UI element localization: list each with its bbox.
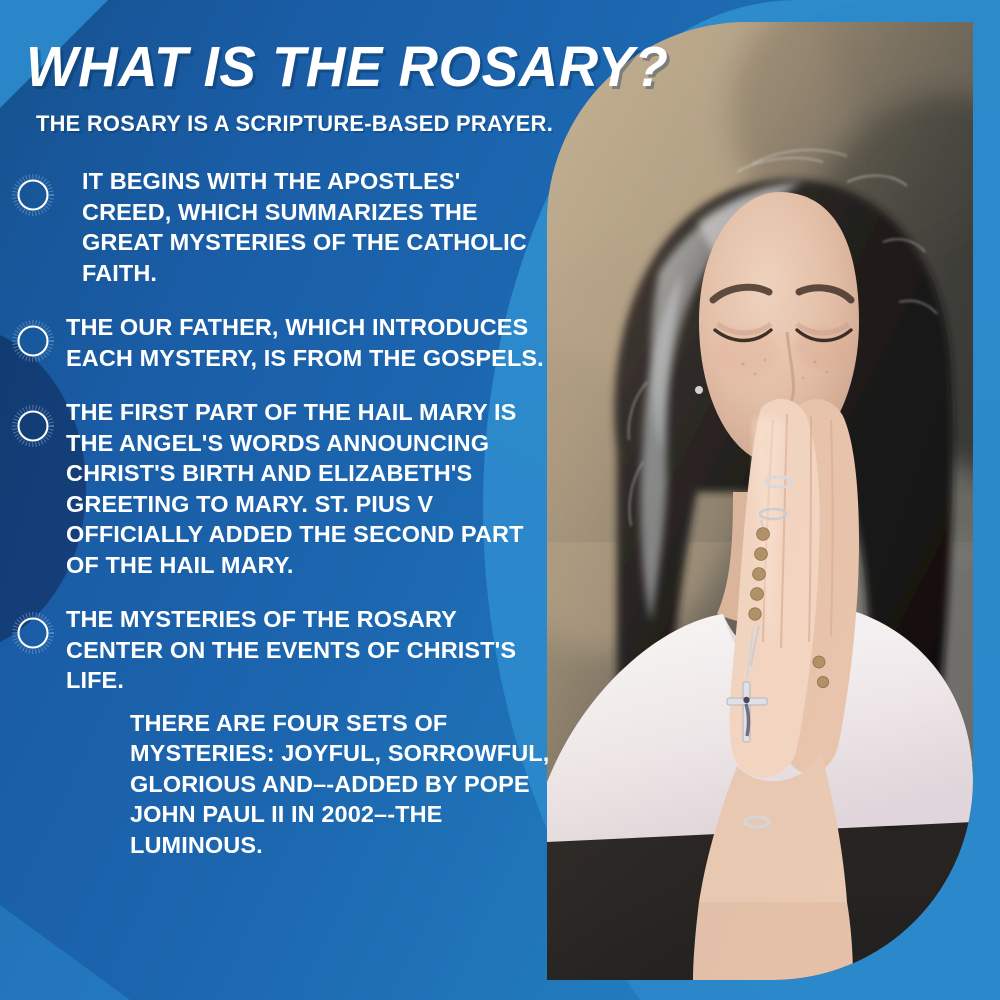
bullet-marker-cell: [0, 397, 66, 447]
list-item-text: The Our Father, which introduces each my…: [66, 312, 560, 373]
list-item: The mysteries of the Rosary center on th…: [0, 604, 560, 696]
bullet-marker-cell: [0, 312, 66, 362]
list-item: It begins with the Apostles' Creed, whic…: [0, 166, 560, 288]
bullet-marker-cell: [0, 166, 66, 216]
list-item-text: The mysteries of the Rosary center on th…: [66, 604, 560, 696]
list-item: The first part of the Hail Mary is the a…: [0, 397, 560, 580]
list-item-text: The first part of the Hail Mary is the a…: [66, 397, 560, 580]
ring-bullet-icon: [12, 174, 54, 216]
ring-bullet-icon: [12, 405, 54, 447]
page-subtitle: The Rosary is a Scripture-based prayer.: [36, 110, 637, 138]
list-item-subpoint: There are four sets of mysteries: joyful…: [130, 708, 550, 861]
bullet-marker-cell: [0, 604, 66, 654]
list-item-text: It begins with the Apostles' Creed, whic…: [66, 166, 560, 288]
page-title: What is the Rosary?: [26, 36, 621, 98]
list-item: The Our Father, which introduces each my…: [0, 312, 560, 373]
ring-bullet-icon: [12, 612, 54, 654]
praying-woman-photo: [547, 22, 973, 980]
rosary-infographic-poster: What is the Rosary? The Rosary is a Scri…: [0, 0, 1000, 1000]
bottom-left-diagonal-shape: [0, 905, 130, 1000]
bullet-list: It begins with the Apostles' Creed, whic…: [0, 166, 560, 860]
ring-bullet-icon: [12, 320, 54, 362]
